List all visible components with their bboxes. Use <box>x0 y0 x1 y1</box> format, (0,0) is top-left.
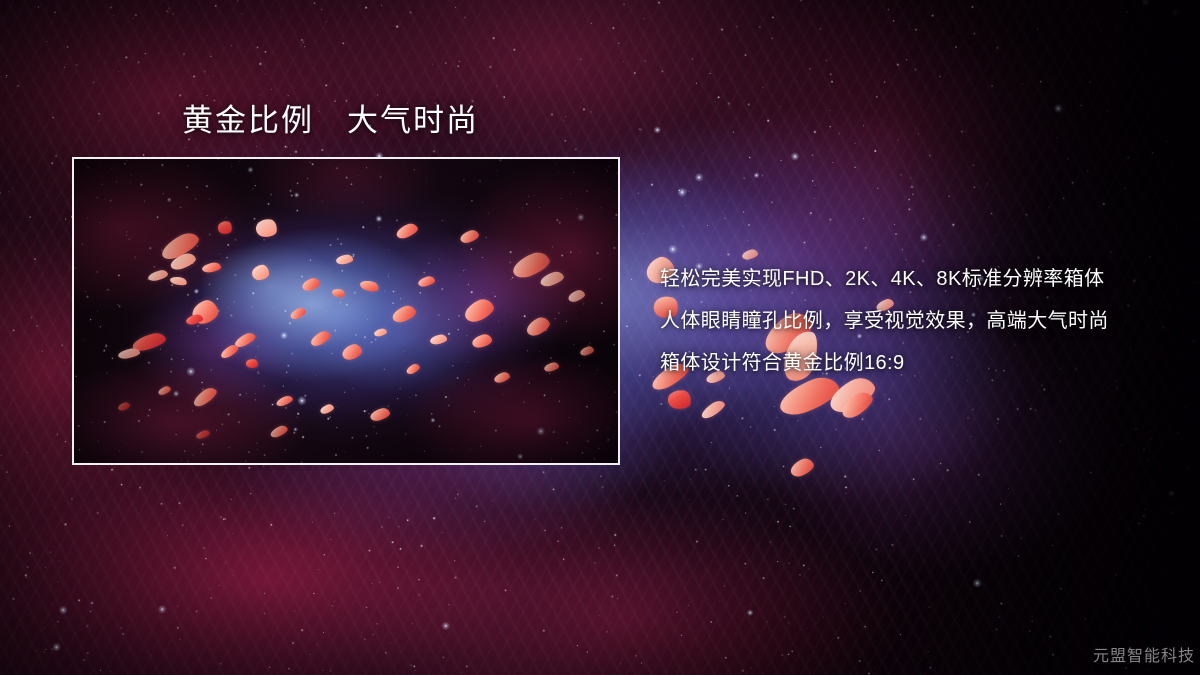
body-line-2: 人体眼睛瞳孔比例，享受视觉效果，高端大气时尚 <box>660 300 1170 342</box>
petal <box>699 398 727 421</box>
watermark: 元盟智能科技 <box>1093 647 1195 667</box>
page-title: 黄金比例 大气时尚 <box>182 101 479 141</box>
petal <box>838 388 876 422</box>
slide-canvas: 黄金比例 大气时尚 轻松完美实现FHD、2K、4K、8K标准分辨率箱体 人体眼睛… <box>0 0 1200 675</box>
photo-vignette <box>74 159 618 463</box>
petal <box>788 456 816 479</box>
photo-image <box>74 159 618 463</box>
body-line-1: 轻松完美实现FHD、2K、4K、8K标准分辨率箱体 <box>660 258 1170 300</box>
photo-frame <box>72 157 620 465</box>
body-line-3: 箱体设计符合黄金比例16:9 <box>660 342 1170 384</box>
body-text-block: 轻松完美实现FHD、2K、4K、8K标准分辨率箱体 人体眼睛瞳孔比例，享受视觉效… <box>660 258 1170 384</box>
petal <box>667 388 692 410</box>
